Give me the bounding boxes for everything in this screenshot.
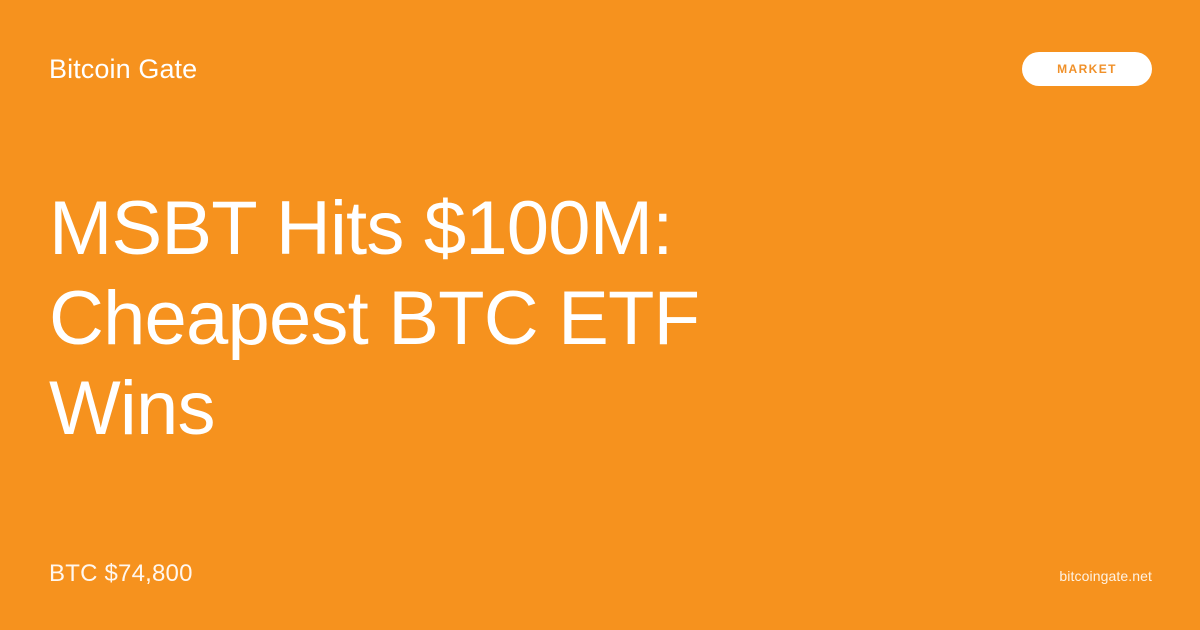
- page-title: MSBT Hits $100M: Cheapest BTC ETF Wins: [49, 184, 809, 454]
- btc-price-ticker: BTC $74,800: [49, 560, 193, 588]
- card-footer: BTC $74,800 bitcoingate.net: [49, 558, 1152, 588]
- headline-region: MSBT Hits $100M: Cheapest BTC ETF Wins: [49, 80, 1152, 558]
- site-url: bitcoingate.net: [1059, 567, 1152, 588]
- social-share-card: Bitcoin Gate MARKET MSBT Hits $100M: Che…: [0, 0, 1200, 630]
